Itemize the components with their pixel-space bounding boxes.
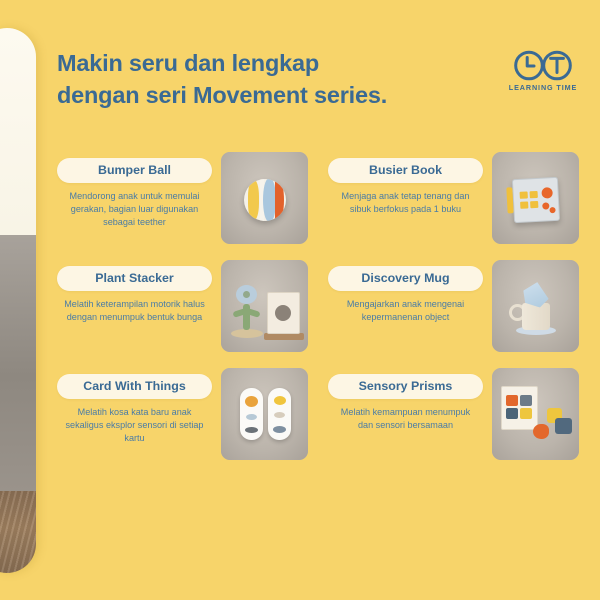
logo-brand-text: LEARNING TIME: [507, 83, 579, 92]
ball-illustration: [244, 179, 286, 221]
product-text-block: Busier Book Menjaga anak tetap tenang da…: [328, 152, 483, 216]
product-description: Melatih kemampuan menumpuk dan sensori b…: [328, 406, 483, 432]
logo-mark-icon: [512, 50, 574, 81]
product-card-sensory-prisms[interactable]: Sensory Prisms Melatih kemampuan menumpu…: [328, 368, 579, 464]
product-title: Busier Book: [328, 158, 483, 183]
prism-block-blue: [555, 418, 572, 434]
prism-product-box: [501, 386, 538, 430]
product-title: Sensory Prisms: [328, 374, 483, 399]
product-title: Bumper Ball: [57, 158, 212, 183]
product-card-plant-stacker[interactable]: Plant Stacker Melatih keterampilan motor…: [57, 260, 308, 356]
product-text-block: Card With Things Melatih kosa kata baru …: [57, 368, 212, 445]
learning-time-logo: LEARNING TIME: [507, 50, 579, 92]
gray-wall-region: [0, 235, 36, 491]
product-box: [267, 292, 300, 334]
product-text-block: Bumper Ball Mendorong anak untuk memulai…: [57, 152, 212, 229]
promo-page: Makin seru dan lengkap dengan seri Movem…: [0, 0, 600, 600]
flash-card-column-left: [240, 388, 263, 440]
cream-wall-region: [0, 28, 36, 235]
photo-backdrop: [221, 368, 308, 460]
wood-board: [264, 333, 304, 340]
sensory-prisms-photo: [492, 368, 579, 460]
product-description: Melatih keterampilan motorik halus denga…: [57, 298, 212, 324]
product-description: Mengajarkan anak mengenai kepermanenan o…: [328, 298, 483, 324]
page-title: Makin seru dan lengkap dengan seri Movem…: [57, 48, 578, 112]
left-room-photo-strip: [0, 28, 36, 573]
product-title: Discovery Mug: [328, 266, 483, 291]
busier-book-photo: [492, 152, 579, 244]
flash-card-column-right: [268, 388, 291, 440]
prism-block-orange: [533, 424, 549, 439]
product-text-block: Discovery Mug Mengajarkan anak mengenai …: [328, 260, 483, 324]
bumper-ball-photo: [221, 152, 308, 244]
product-title: Plant Stacker: [57, 266, 212, 291]
card-with-things-photo: [221, 368, 308, 460]
discovery-mug-photo: [492, 260, 579, 352]
product-grid: Bumper Ball Mendorong anak untuk memulai…: [57, 152, 579, 464]
product-card-card-with-things[interactable]: Card With Things Melatih kosa kata baru …: [57, 368, 308, 464]
stacker-flower: [236, 285, 257, 304]
wood-floor-region: [0, 491, 36, 573]
product-card-discovery-mug[interactable]: Discovery Mug Mengajarkan anak mengenai …: [328, 260, 579, 356]
product-text-block: Sensory Prisms Melatih kemampuan menumpu…: [328, 368, 483, 432]
product-description: Mendorong anak untuk memulai gerakan, ba…: [57, 190, 212, 229]
product-card-busier-book[interactable]: Busier Book Menjaga anak tetap tenang da…: [328, 152, 579, 248]
product-title: Card With Things: [57, 374, 212, 399]
header: Makin seru dan lengkap dengan seri Movem…: [57, 48, 578, 114]
plant-stacker-photo: [221, 260, 308, 352]
stacker-base: [231, 329, 263, 338]
product-text-block: Plant Stacker Melatih keterampilan motor…: [57, 260, 212, 324]
mug-body: [522, 303, 550, 330]
product-description: Menjaga anak tetap tenang dan sibuk berf…: [328, 190, 483, 216]
product-card-bumper-ball[interactable]: Bumper Ball Mendorong anak untuk memulai…: [57, 152, 308, 248]
book-illustration: [511, 177, 559, 223]
product-description: Melatih kosa kata baru anak sekaligus ek…: [57, 406, 212, 445]
